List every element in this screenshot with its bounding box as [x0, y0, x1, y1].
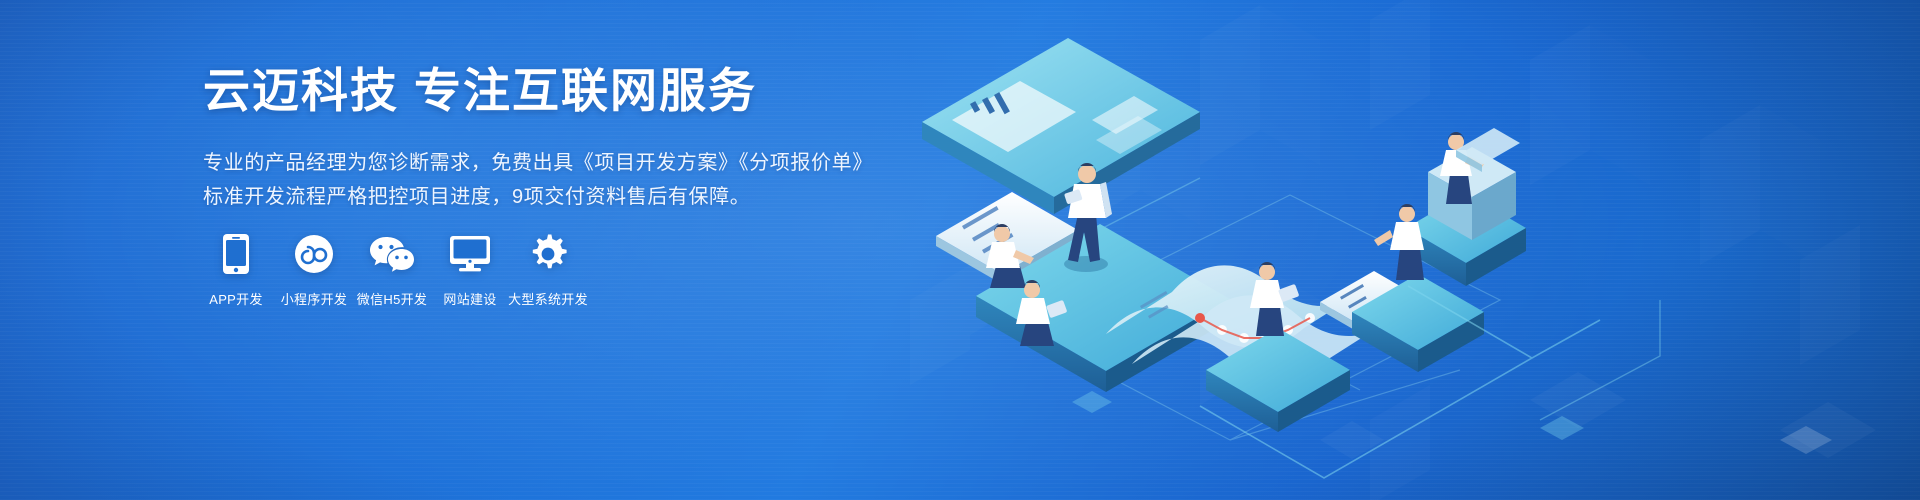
wechat-icon [370, 232, 414, 276]
service-item-website[interactable]: 网站建设 [434, 232, 506, 308]
mobile-phone-icon [222, 232, 250, 276]
service-item-wechat-h5[interactable]: 微信H5开发 [356, 232, 428, 308]
service-label: APP开发 [209, 289, 263, 308]
service-item-app[interactable]: APP开发 [200, 232, 272, 308]
hero-subtitle: 专业的产品经理为您诊断需求，免费出具《项目开发方案》《分项报价单》 标准开发流程… [203, 146, 963, 215]
hero-banner: 云迈科技 专注互联网服务 专业的产品经理为您诊断需求，免费出具《项目开发方案》《… [0, 0, 1920, 500]
service-item-large-system[interactable]: 大型系统开发 [512, 232, 584, 308]
service-label: 小程序开发 [281, 289, 348, 308]
service-item-mini-program[interactable]: 小程序开发 [278, 232, 350, 308]
hero-illustration [900, 0, 1920, 500]
mini-program-icon [294, 232, 334, 276]
page-title: 云迈科技 专注互联网服务 [203, 62, 963, 121]
service-label: 网站建设 [443, 289, 496, 308]
service-list: APP开发 小程序开发 微信 [200, 232, 590, 308]
subtitle-line-2: 标准开发流程严格把控项目进度，9项交付资料售后有保障。 [203, 180, 963, 214]
hero-copy: 云迈科技 专注互联网服务 专业的产品经理为您诊断需求，免费出具《项目开发方案》《… [203, 62, 963, 215]
monitor-icon [449, 232, 491, 276]
service-label: 微信H5开发 [357, 289, 427, 308]
gear-icon [528, 232, 568, 276]
service-label: 大型系统开发 [508, 289, 588, 308]
subtitle-line-1: 专业的产品经理为您诊断需求，免费出具《项目开发方案》《分项报价单》 [203, 146, 963, 180]
